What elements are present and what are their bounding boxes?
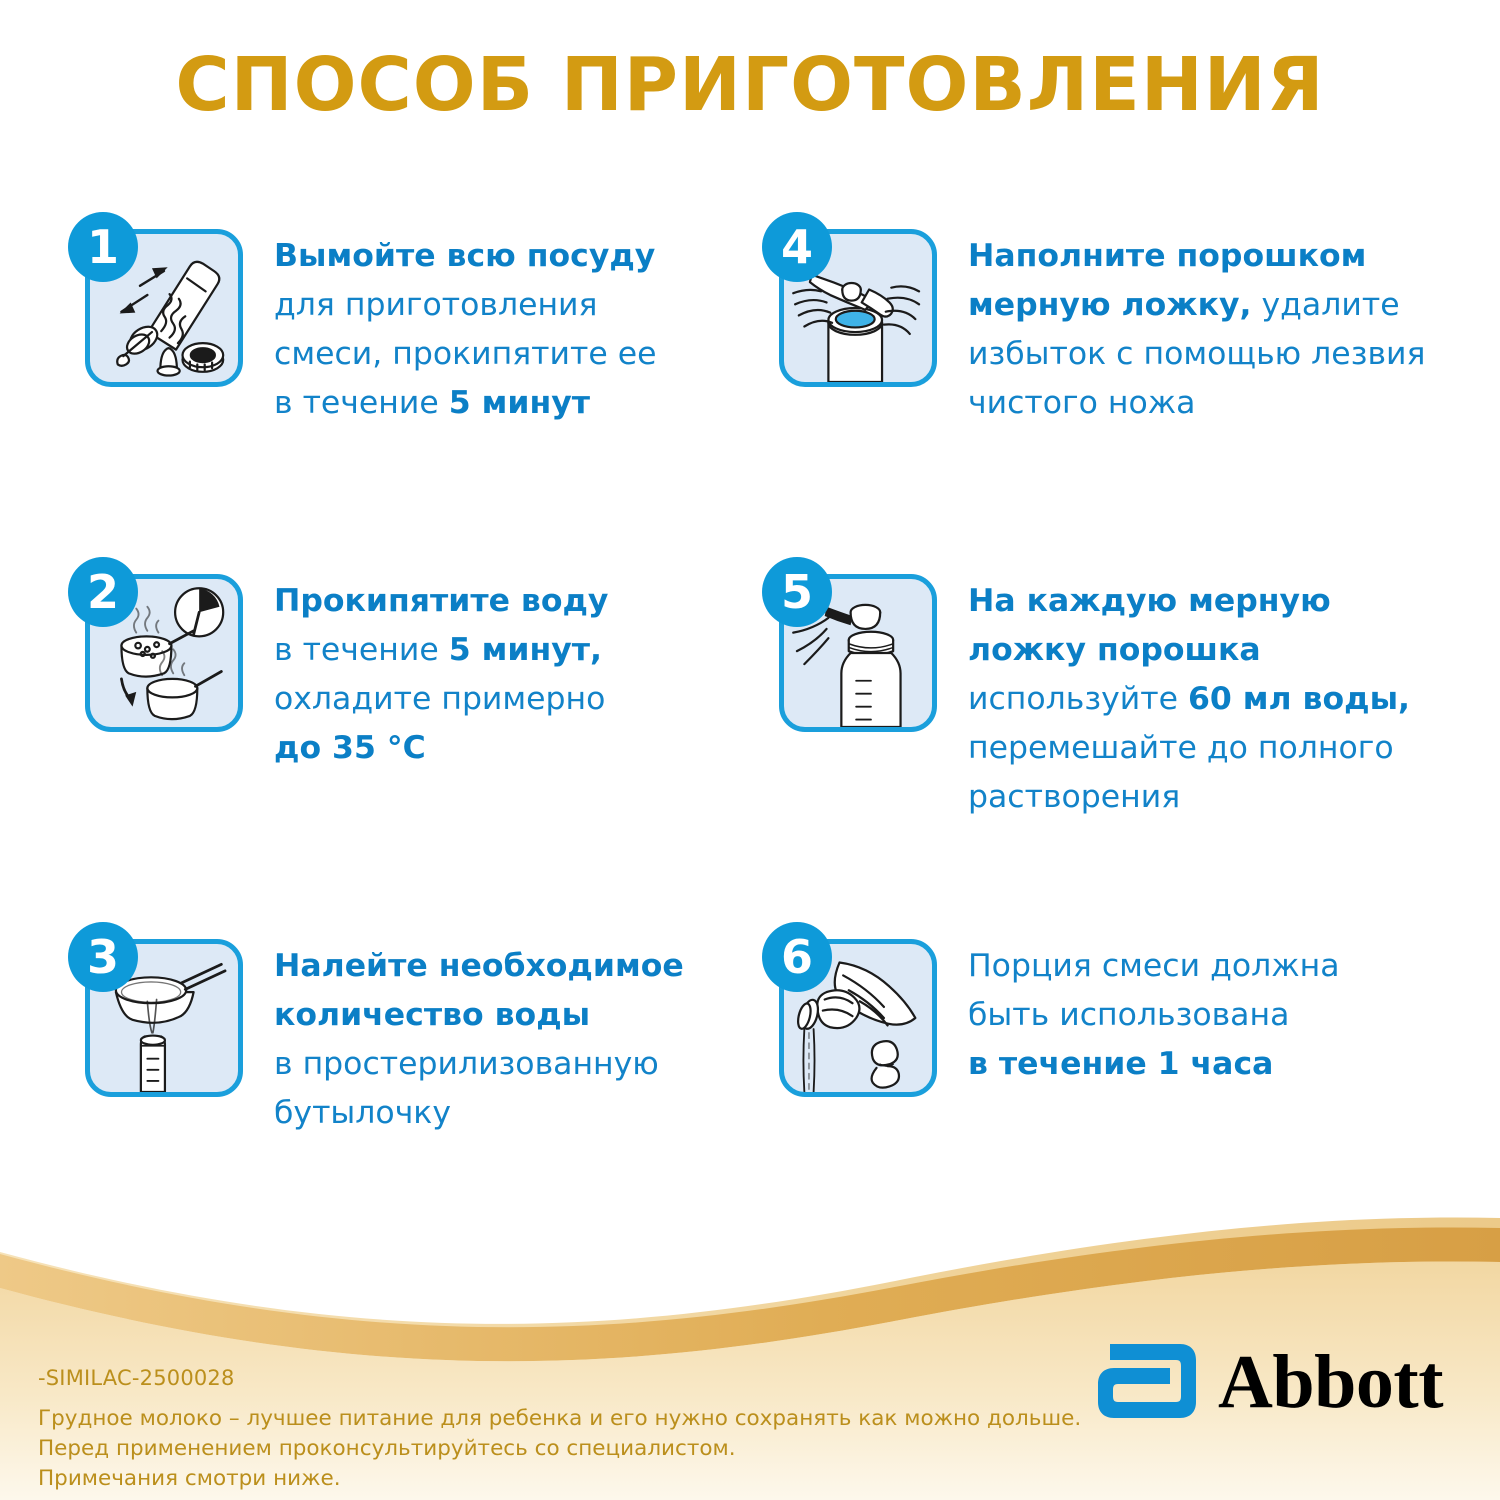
step-text-line: используйте 60 мл воды, xyxy=(968,675,1410,724)
step-text-emphasis: количество воды xyxy=(274,997,590,1033)
step-6-icon-wrap: 6 xyxy=(762,922,944,1104)
step-text-line: перемешайте до полного xyxy=(968,724,1410,773)
step-text-emphasis: до 35 °C xyxy=(274,730,426,766)
step-text-emphasis: Налейте необходимое xyxy=(274,948,684,984)
step-3-text: Налейте необходимоеколичество водыв прос… xyxy=(274,922,684,1138)
step-3-icon-wrap: 3 xyxy=(68,922,250,1104)
step-4-number-badge: 4 xyxy=(762,212,832,282)
step-item-4: 4 xyxy=(762,212,1462,428)
step-text-run: чистого ножа xyxy=(968,385,1195,421)
step-text-emphasis: Вымойте всю посуду xyxy=(274,238,655,274)
disclaimer-line-1: Грудное молоко – лучшее питание для ребе… xyxy=(38,1404,1081,1434)
disclaimer-line-3: Примечания смотри ниже. xyxy=(38,1464,1081,1494)
step-text-run: для приготовления xyxy=(274,287,597,323)
step-text-run: избыток с помощью лезвия xyxy=(968,336,1425,372)
step-text-line: мерную ложку, удалите xyxy=(968,281,1425,330)
step-3-number-badge: 3 xyxy=(68,922,138,992)
product-code: -SIMILAC-2500028 xyxy=(38,1366,235,1390)
step-text-line: Наполните порошком xyxy=(968,232,1425,281)
step-4-icon-wrap: 4 xyxy=(762,212,944,394)
step-2-icon-wrap: 2 xyxy=(68,557,250,739)
step-text-line: растворения xyxy=(968,773,1410,822)
page-title: СПОСОБ ПРИГОТОВЛЕНИЯ xyxy=(0,42,1500,128)
step-text-run: Порция смеси должна xyxy=(968,948,1340,984)
step-text-line: охладите примерно xyxy=(274,675,608,724)
step-item-5: 5 xyxy=(762,557,1462,822)
step-text-line: смеси, прокипятите ее xyxy=(274,330,657,379)
step-text-run: охладите примерно xyxy=(274,681,605,717)
step-text-line: для приготовления xyxy=(274,281,657,330)
step-1-number-badge: 1 xyxy=(68,212,138,282)
step-text-emphasis: На каждую мерную xyxy=(968,583,1331,619)
steps-grid: 1 xyxy=(0,212,1500,1212)
step-text-run: бутылочку xyxy=(274,1095,451,1131)
step-text-line: количество воды xyxy=(274,991,684,1040)
abbott-logo: Abbott xyxy=(1092,1340,1443,1424)
step-text-line: в течение 1 часа xyxy=(968,1040,1340,1089)
step-text-run: в простерилизованную xyxy=(274,1046,659,1082)
step-2-text: Прокипятите водув течение 5 минут,охлади… xyxy=(274,557,608,773)
step-item-1: 1 xyxy=(68,212,718,428)
step-5-icon-wrap: 5 xyxy=(762,557,944,739)
step-5-text: На каждую мернуюложку порошкаиспользуйте… xyxy=(968,557,1410,822)
step-text-run: быть использована xyxy=(968,997,1289,1033)
step-text-emphasis: 60 мл воды, xyxy=(1188,681,1410,717)
step-text-run: растворения xyxy=(968,779,1180,815)
step-text-line: быть использована xyxy=(968,991,1340,1040)
step-text-line: Порция смеси должна xyxy=(968,942,1340,991)
step-text-line: чистого ножа xyxy=(968,379,1425,428)
step-text-line: ложку порошка xyxy=(968,626,1410,675)
step-item-2: 2 xyxy=(68,557,718,773)
step-text-line: Налейте необходимое xyxy=(274,942,684,991)
step-text-line: в течение 5 минут, xyxy=(274,626,608,675)
step-text-run: используйте xyxy=(968,681,1188,717)
step-text-emphasis: 5 минут, xyxy=(449,632,602,668)
step-text-emphasis: ложку порошка xyxy=(968,632,1261,668)
step-text-line: Вымойте всю посуду xyxy=(274,232,657,281)
step-text-run: удалите xyxy=(1252,287,1400,323)
step-6-text: Порция смеси должнабыть использованав те… xyxy=(968,922,1340,1089)
step-item-3: 3 xyxy=(68,922,718,1138)
step-text-run: в течение xyxy=(274,385,449,421)
step-text-line: бутылочку xyxy=(274,1089,684,1138)
abbott-symbol-icon xyxy=(1092,1340,1200,1424)
step-text-line: в течение 5 минут xyxy=(274,379,657,428)
step-1-text: Вымойте всю посудудля приготовлениясмеси… xyxy=(274,212,657,428)
disclaimer-line-2: Перед применением проконсультируйтесь со… xyxy=(38,1434,1081,1464)
step-6-number-badge: 6 xyxy=(762,922,832,992)
step-text-emphasis: Наполните порошком xyxy=(968,238,1366,274)
step-text-run: перемешайте до полного xyxy=(968,730,1394,766)
step-5-number-badge: 5 xyxy=(762,557,832,627)
step-text-emphasis: в течение 1 часа xyxy=(968,1046,1273,1082)
step-1-icon-wrap: 1 xyxy=(68,212,250,394)
step-item-6: 6 xyxy=(762,922,1462,1104)
step-text-emphasis: мерную ложку, xyxy=(968,287,1252,323)
step-text-emphasis: Прокипятите воду xyxy=(274,583,608,619)
abbott-wordmark: Abbott xyxy=(1218,1344,1443,1420)
step-text-line: Прокипятите воду xyxy=(274,577,608,626)
step-4-text: Наполните порошкоммерную ложку, удалитеи… xyxy=(968,212,1425,428)
step-text-line: На каждую мерную xyxy=(968,577,1410,626)
step-2-number-badge: 2 xyxy=(68,557,138,627)
step-text-emphasis: 5 минут xyxy=(449,385,590,421)
step-text-line: в простерилизованную xyxy=(274,1040,684,1089)
step-text-line: избыток с помощью лезвия xyxy=(968,330,1425,379)
footer-disclaimer: Грудное молоко – лучшее питание для ребе… xyxy=(38,1404,1081,1494)
step-text-run: смеси, прокипятите ее xyxy=(274,336,657,372)
step-text-run: в течение xyxy=(274,632,449,668)
step-text-line: до 35 °C xyxy=(274,724,608,773)
